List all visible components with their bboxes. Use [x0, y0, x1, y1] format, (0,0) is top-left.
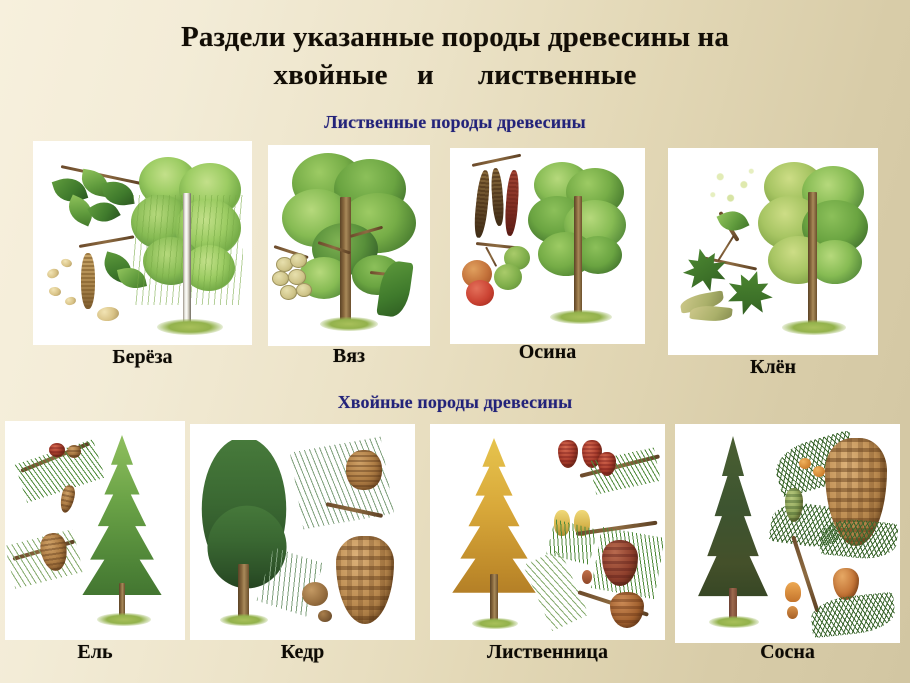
page-title: Раздели указанные породы древесины на хв… [0, 18, 910, 95]
birch-tree-illustration [33, 141, 252, 345]
caption-pine: Сосна [675, 641, 900, 664]
birch-seed [46, 267, 60, 280]
maple-trunk [808, 192, 817, 330]
caption-birch: Берёза [33, 346, 252, 369]
spruce-tree-illustration [5, 421, 185, 640]
birch-catkin [81, 253, 95, 309]
cedar-tree-illustration [190, 424, 415, 640]
elm-trunk [340, 197, 351, 327]
pine-bud [799, 458, 811, 469]
pine-ground [709, 616, 759, 628]
cedar-ground [220, 614, 268, 626]
elm-fruit [290, 253, 307, 268]
spruce-young-cone [67, 445, 81, 458]
slide-canvas: Раздели указанные породы древесины на хв… [0, 0, 910, 683]
elm-ground [320, 317, 378, 331]
illustration-panel-maple[interactable] [668, 148, 878, 355]
aspen-catkin [490, 168, 505, 227]
maple-leaf-twig [717, 235, 735, 262]
cedar-trunk [238, 564, 249, 620]
pine-sprig [809, 592, 897, 639]
spruce-ground [97, 613, 151, 626]
aspen-round-leaf [466, 280, 494, 306]
larch-trunk [490, 574, 498, 624]
illustration-panel-birch[interactable] [33, 141, 252, 345]
caption-larch: Лиственница [430, 641, 665, 664]
caption-spruce: Ель [5, 641, 185, 664]
elm-tree-illustration [268, 145, 430, 346]
illustration-panel-elm[interactable] [268, 145, 430, 346]
caption-maple: Клён [668, 356, 878, 379]
birch-catkin-twig [79, 235, 135, 248]
elm-fruit [296, 283, 312, 297]
caption-aspen: Осина [450, 341, 645, 364]
larch-cone [610, 592, 644, 628]
aspen-ground [550, 310, 612, 324]
birch-seed [64, 296, 76, 306]
larch-female-flower [558, 440, 578, 468]
pine-seed [785, 582, 801, 602]
birch-seed [96, 306, 119, 322]
page-title-line-1: Раздели указанные породы древесины на [181, 21, 729, 53]
larch-tree-illustration [430, 424, 665, 640]
cedar-nut [302, 582, 328, 606]
larch-seed [582, 570, 592, 584]
caption-cedar: Кедр [190, 641, 415, 664]
section-header-deciduous: Лиственные породы древесины [0, 112, 910, 133]
pine-tree-illustration [675, 424, 900, 643]
elm-fruit [280, 285, 297, 300]
illustration-panel-pine[interactable] [675, 424, 900, 643]
maple-tree-illustration [668, 148, 878, 355]
pine-sprig [819, 516, 899, 562]
caption-elm: Вяз [268, 345, 430, 368]
cedar-nut [318, 610, 332, 622]
illustration-panel-cedar[interactable] [190, 424, 415, 640]
section-header-conifer: Хвойные породы древесины [0, 392, 910, 413]
birch-ground [157, 319, 223, 335]
pine-bud [813, 466, 825, 477]
cedar-cone [336, 536, 394, 624]
birch-trunk [183, 193, 191, 329]
larch-ground [472, 618, 518, 629]
aspen-catkin [504, 170, 521, 237]
maple-flower-cluster [698, 160, 772, 216]
spruce-young-cone [49, 443, 65, 457]
aspen-tree-illustration [450, 148, 645, 344]
illustration-panel-aspen[interactable] [450, 148, 645, 344]
elm-fruit [272, 271, 289, 286]
birch-seed [60, 258, 73, 269]
maple-samara [689, 304, 732, 323]
aspen-round-leaf [494, 264, 522, 290]
maple-ground [782, 320, 846, 335]
aspen-catkin-twig [472, 154, 522, 167]
aspen-trunk [574, 196, 582, 320]
cedar-cone-young [346, 450, 382, 490]
page-title-line-2: хвойные и лиственные [0, 56, 910, 94]
illustration-panel-spruce[interactable] [5, 421, 185, 640]
illustration-panel-larch[interactable] [430, 424, 665, 640]
birch-seed [48, 286, 61, 297]
aspen-catkin [472, 170, 491, 239]
pine-seed [787, 606, 798, 619]
